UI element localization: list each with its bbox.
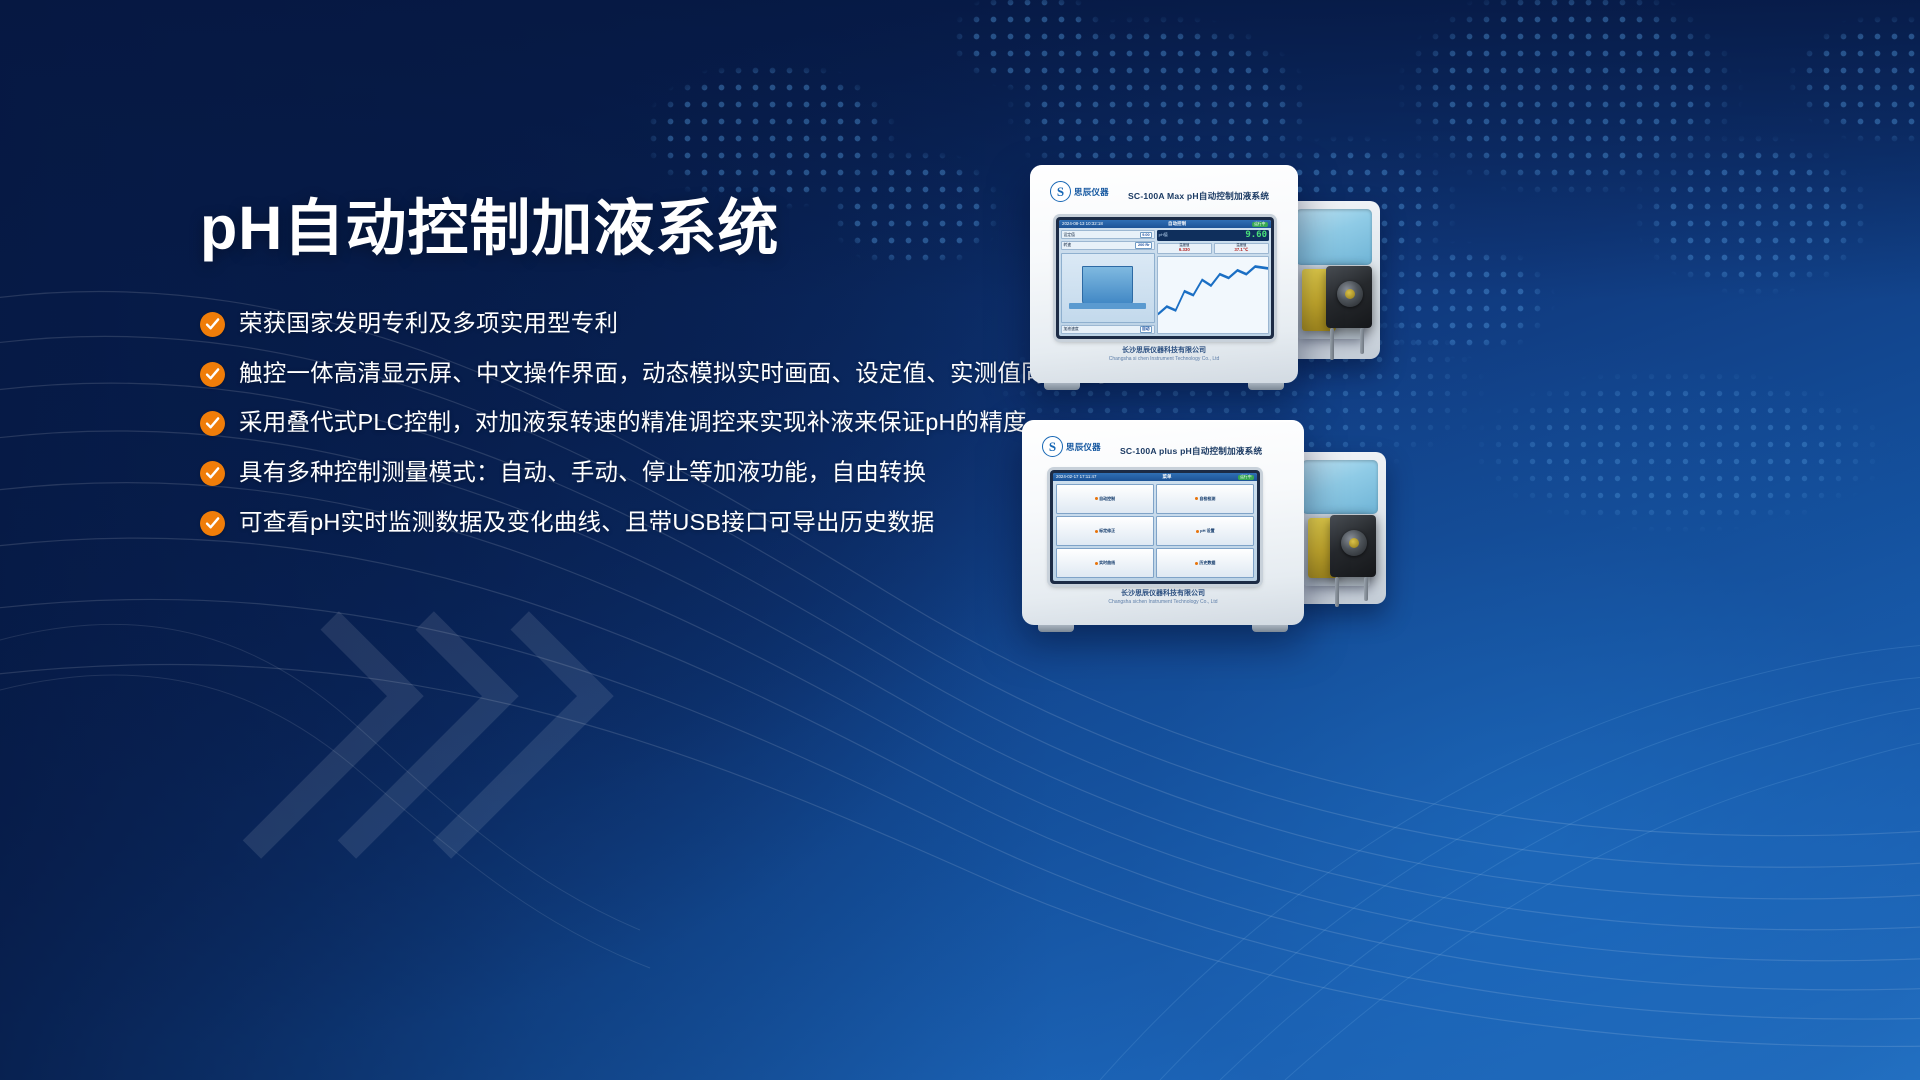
check-circle-icon [200, 511, 225, 536]
ph-value: 9.60 [1245, 231, 1267, 240]
screen-param-row[interactable]: 设定值 9.00 [1061, 230, 1155, 239]
device-side-window [1296, 209, 1372, 265]
brand-logo: S 思辰仪器 [1042, 436, 1101, 457]
menu-label: 实时曲线 [1099, 561, 1115, 565]
device-footer-text: 长沙思辰仪器科技有限公司 Changsha si chen Instrument… [1030, 347, 1298, 362]
feature-item: 荣获国家发明专利及多项实用型专利 [200, 308, 1080, 340]
feature-text: 荣获国家发明专利及多项实用型专利 [239, 308, 618, 340]
menu-button-auto-control[interactable]: 自动控制 [1056, 484, 1154, 514]
menu-label: 自检检测 [1199, 497, 1215, 501]
screen-status-badge: 运行中 [1238, 475, 1254, 480]
screen-param-row[interactable]: 加液速度 自动 [1061, 325, 1155, 334]
bullet-dot-icon [1095, 497, 1098, 500]
menu-button-realtime-curve[interactable]: 实时曲线 [1056, 548, 1154, 578]
pump-tubing [1360, 328, 1364, 354]
menu-button-calibration[interactable]: 标定修正 [1056, 516, 1154, 546]
device-foot [1044, 383, 1080, 390]
feature-text: 触控一体高清显示屏、中文操作界面，动态模拟实时画面、设定值、实测值同时显示 [239, 358, 1116, 390]
bullet-dot-icon [1095, 530, 1098, 533]
feature-text: 具有多种控制测量模式：自动、手动、停止等加液功能，自由转换 [239, 457, 926, 489]
check-circle-icon [200, 461, 225, 486]
screen-process-diagram [1061, 253, 1155, 324]
menu-button-ph-settings[interactable]: pH 设置 [1156, 516, 1254, 546]
device-touchscreen[interactable]: 2024-08-13 10:32:18 自动控制 运行中 设定值 9.00 转速… [1056, 217, 1274, 339]
device-foot [1038, 625, 1074, 632]
bullet-dot-icon [1196, 530, 1199, 533]
feature-item: 触控一体高清显示屏、中文操作界面，动态模拟实时画面、设定值、实测值同时显示 [200, 358, 1080, 390]
brand-name-cn: 思辰仪器 [1074, 186, 1109, 198]
device-model-label: SC-100A Max pH自动控制加液系统 [1128, 190, 1269, 202]
device-footer-text: 长沙思辰仪器科技有限公司 Changsha sichen Instrument … [1022, 590, 1304, 605]
pump-tubing [1330, 328, 1334, 360]
menu-label: 标定修正 [1099, 529, 1115, 533]
device-side-window [1302, 460, 1378, 514]
screen-right-panel: pH值 9.60 温度值 6.330 温度值 37.1℃ [1157, 230, 1269, 334]
screen-tile: 温度值 37.1℃ [1214, 243, 1269, 255]
screen-title: 菜单 [1162, 475, 1171, 480]
vessel-graphic [1082, 266, 1133, 306]
screen-datetime: 2024-02-17 17:11:47 [1056, 475, 1096, 480]
screen-tiles: 温度值 6.330 温度值 37.1℃ [1157, 243, 1269, 255]
product-device-sc100a-plus: S 思辰仪器 SC-100A plus pH自动控制加液系统 2024-02-1… [1022, 420, 1442, 650]
feature-item: 采用叠代式PLC控制，对加液泵转速的精准调控来实现补液来保证pH的精度 [200, 407, 1080, 439]
screen-titlebar: 2024-08-13 10:32:18 自动控制 运行中 [1059, 220, 1271, 228]
menu-button-self-test[interactable]: 自检检测 [1156, 484, 1254, 514]
brand-name-cn: 思辰仪器 [1066, 441, 1101, 453]
brand-logo: S 思辰仪器 [1050, 181, 1109, 202]
pump-rotor-cap [1345, 289, 1355, 299]
screen-param-row[interactable]: 转速 200 Rr [1061, 241, 1155, 250]
ph-label: pH值 [1159, 233, 1168, 237]
feature-item: 具有多种控制测量模式：自动、手动、停止等加液功能，自由转换 [200, 457, 1080, 489]
check-circle-icon [200, 411, 225, 436]
feature-text: 可查看pH实时监测数据及变化曲线、且带USB接口可导出历史数据 [239, 507, 935, 539]
logo-circle-icon: S [1042, 436, 1063, 457]
check-circle-icon [200, 312, 225, 337]
feature-item: 可查看pH实时监测数据及变化曲线、且带USB接口可导出历史数据 [200, 507, 1080, 539]
banner-content: pH自动控制加液系统 荣获国家发明专利及多项实用型专利 触控一体高清显示屏、中文… [200, 196, 1080, 556]
param-value: 9.00 [1140, 232, 1152, 238]
param-label: 加液速度 [1064, 327, 1079, 331]
product-banner: pH自动控制加液系统 荣获国家发明专利及多项实用型专利 触控一体高清显示屏、中文… [0, 0, 1920, 1080]
menu-label: 历史数据 [1199, 561, 1215, 565]
bullet-dot-icon [1195, 497, 1198, 500]
pump-rotor-cap [1349, 538, 1359, 548]
bullet-dot-icon [1195, 562, 1198, 565]
pump-tubing [1364, 577, 1368, 601]
tile-value: 6.330 [1158, 248, 1210, 253]
param-value: 自动 [1140, 326, 1153, 332]
tile-value: 37.1℃ [1215, 248, 1267, 253]
menu-label: 自动控制 [1099, 497, 1115, 501]
pump-tubing [1335, 577, 1339, 607]
param-label: 设定值 [1064, 233, 1075, 237]
screen-menu-grid: 自动控制 自检检测 标定修正 pH 设置 [1053, 481, 1257, 581]
device-model-label: SC-100A plus pH自动控制加液系统 [1120, 445, 1262, 457]
bullet-dot-icon [1095, 562, 1098, 565]
screen-trend-chart [1157, 256, 1269, 334]
screen-left-panel: 设定值 9.00 转速 200 Rr 加液速度 [1061, 230, 1155, 334]
feature-list: 荣获国家发明专利及多项实用型专利 触控一体高清显示屏、中文操作界面，动态模拟实时… [200, 308, 1080, 539]
param-value: 200 Rr [1135, 242, 1152, 248]
param-label: 转速 [1064, 243, 1072, 247]
device-touchscreen[interactable]: 2024-02-17 17:11:47 菜单 运行中 自动控制 自检检测 [1050, 470, 1260, 584]
device-foot [1252, 625, 1288, 632]
screen-tile: 温度值 6.330 [1157, 243, 1212, 255]
screen-status-badge: 运行中 [1252, 222, 1268, 227]
page-title: pH自动控制加液系统 [200, 196, 1080, 262]
device-foot [1248, 383, 1284, 390]
menu-button-history-data[interactable]: 历史数据 [1156, 548, 1254, 578]
screen-datetime: 2024-08-13 10:32:18 [1062, 222, 1103, 227]
check-circle-icon [200, 362, 225, 387]
menu-label: pH 设置 [1200, 529, 1214, 533]
ph-readout: pH值 9.60 [1157, 230, 1269, 241]
screen-title: 自动控制 [1168, 222, 1186, 227]
company-name-en: Changsha si chen Instrument Technology C… [1030, 356, 1298, 362]
product-device-sc100a-max: S 思辰仪器 SC-100A Max pH自动控制加液系统 2024-08-13… [1030, 165, 1450, 425]
logo-circle-icon: S [1050, 181, 1071, 202]
company-name-cn: 长沙思辰仪器科技有限公司 [1022, 590, 1304, 599]
feature-text: 采用叠代式PLC控制，对加液泵转速的精准调控来实现补液来保证pH的精度 [239, 407, 1027, 439]
screen-titlebar: 2024-02-17 17:11:47 菜单 运行中 [1053, 473, 1257, 481]
company-name-en: Changsha sichen Instrument Technology Co… [1022, 599, 1304, 605]
company-name-cn: 长沙思辰仪器科技有限公司 [1030, 347, 1298, 356]
pipe-graphic [1069, 303, 1146, 309]
